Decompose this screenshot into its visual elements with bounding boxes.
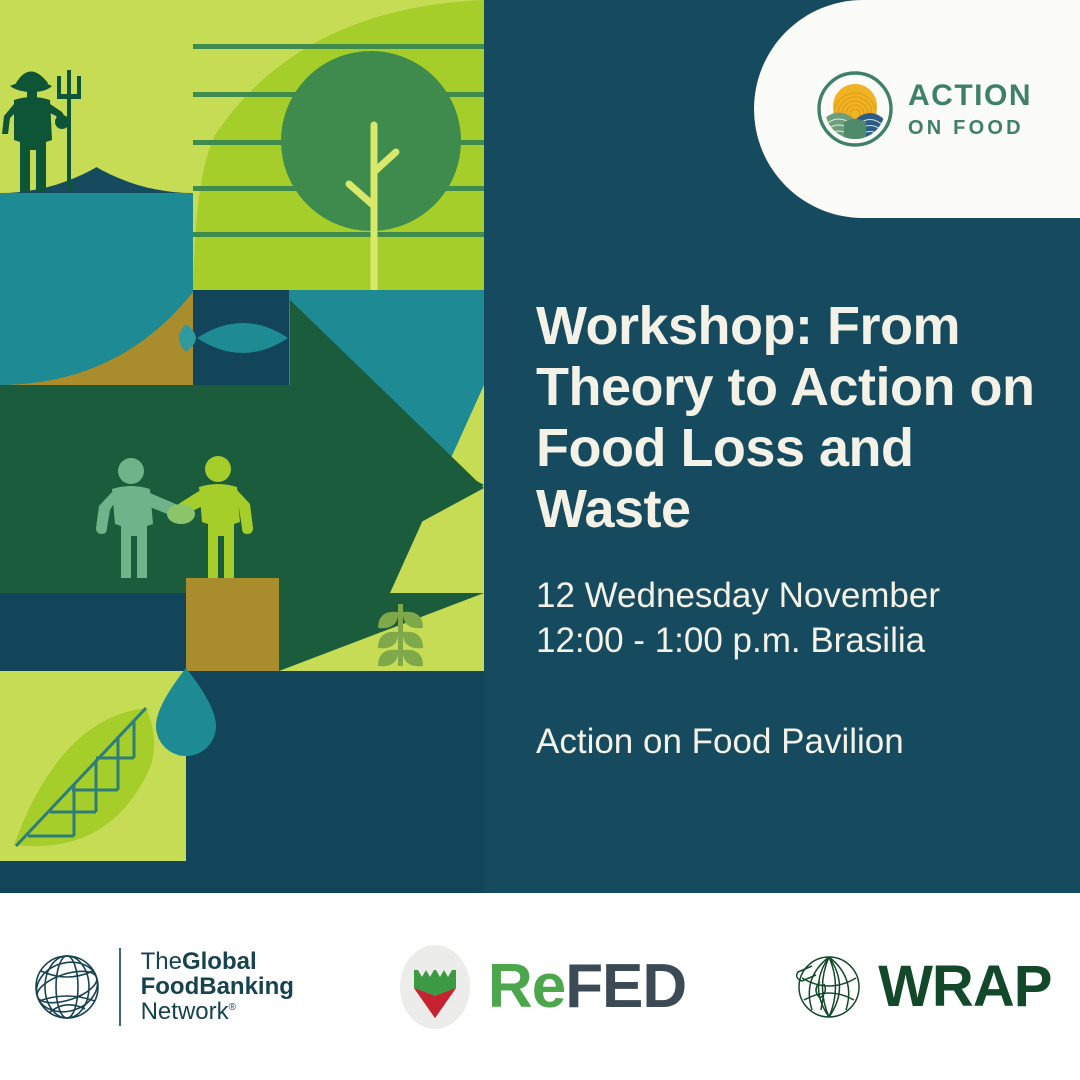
action-on-food-sun-field-mark	[816, 70, 894, 148]
gfn-line3: Network®	[141, 999, 294, 1024]
aof-logo-line1: ACTION	[908, 81, 1032, 111]
refed-fed: FED	[565, 952, 686, 1021]
gfn-line1: TheGlobal	[141, 949, 294, 974]
partner-logo-wrap: WRAP	[790, 948, 1051, 1026]
action-on-food-logo-pill: ACTION ON FOOD	[754, 0, 1080, 218]
artwork-collage	[0, 0, 484, 893]
refed-leaf-shield-icon	[398, 944, 472, 1030]
event-title: Workshop: From Theory to Action on Food …	[536, 296, 1046, 540]
event-copy: Workshop: From Theory to Action on Food …	[536, 296, 1046, 764]
aof-lockup: ACTION ON FOOD	[816, 70, 1032, 148]
wireframe-globe-icon	[29, 949, 105, 1025]
partner-logo-refed: ReFED	[398, 944, 686, 1030]
wrap-thread-globe-icon	[790, 948, 864, 1026]
promo-poster: ACTION ON FOOD Workshop: From Theory to …	[0, 0, 1080, 1080]
partner-logo-gfn: TheGlobal FoodBanking Network®	[29, 948, 294, 1026]
event-venue: Action on Food Pavilion	[536, 720, 1046, 765]
wrap-wordmark: WRAP	[878, 958, 1051, 1016]
gfn-line2: FoodBanking	[141, 974, 294, 999]
poster-stage: ACTION ON FOOD Workshop: From Theory to …	[0, 0, 1080, 893]
refed-re: Re	[488, 952, 565, 1021]
refed-wordmark: ReFED	[488, 956, 686, 1018]
event-datetime: 12 Wednesday November 12:00 - 1:00 p.m. …	[536, 574, 1046, 664]
event-time: 12:00 - 1:00 p.m. Brasilia	[536, 621, 925, 660]
aof-logo-line2: ON FOOD	[908, 118, 1032, 138]
gfn-divider	[119, 948, 121, 1026]
partner-logo-footer: TheGlobal FoodBanking Network® ReFED	[0, 893, 1080, 1080]
event-date: 12 Wednesday November	[536, 576, 940, 615]
